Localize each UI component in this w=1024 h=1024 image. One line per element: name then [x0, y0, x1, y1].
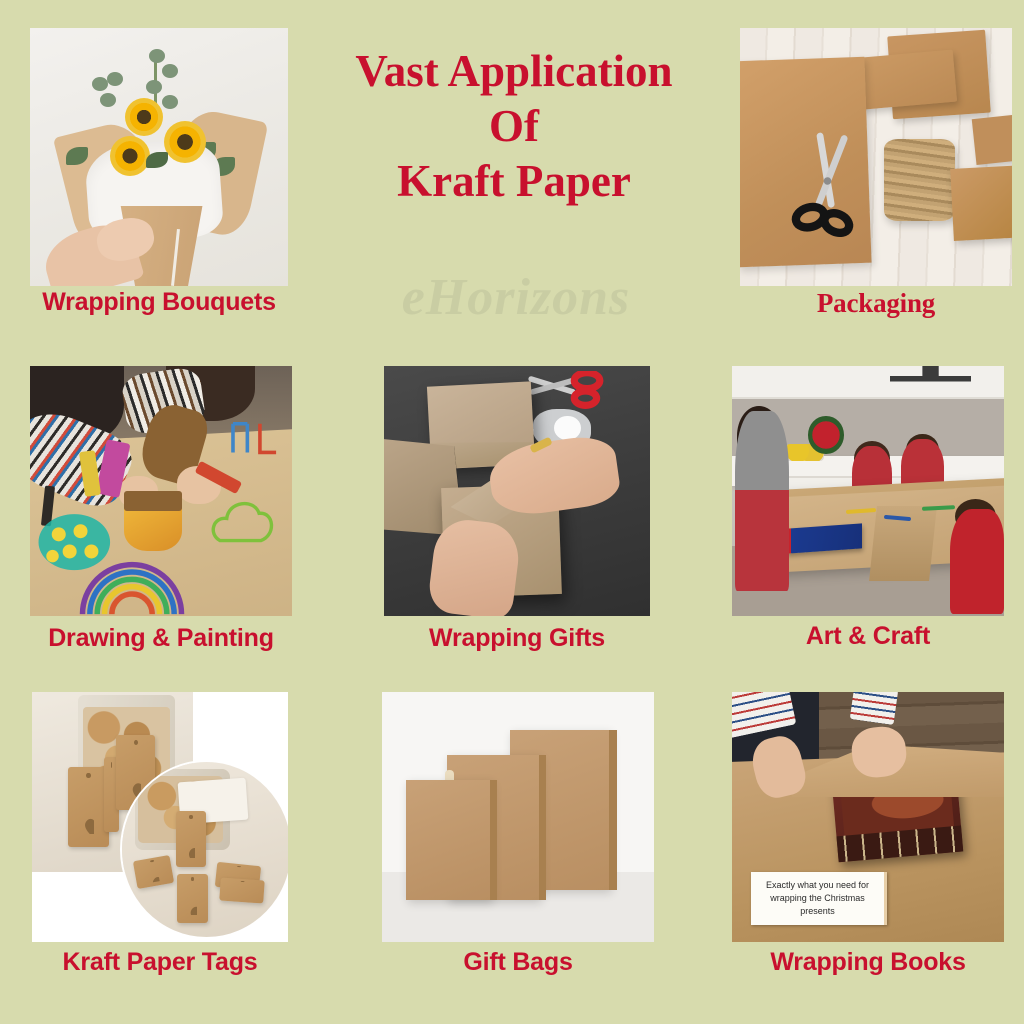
photo-kraft-paper-tags — [32, 692, 288, 942]
page-title: Vast Application Of Kraft Paper — [290, 44, 738, 209]
photo-wrapping-bouquets — [30, 28, 288, 286]
photo-art-craft — [732, 366, 1004, 616]
tile-packaging — [740, 28, 1012, 286]
watermark-text: eHorizons — [330, 268, 702, 327]
caption-packaging: Packaging — [740, 290, 1012, 317]
photo-gift-bags — [382, 692, 654, 942]
caption-kraft-paper-tags: Kraft Paper Tags — [22, 950, 298, 975]
tile-kraft-paper-tags — [32, 692, 288, 942]
caption-gift-bags: Gift Bags — [382, 950, 654, 975]
caption-wrapping-books: Wrapping Books — [732, 950, 1004, 975]
photo-drawing-painting — [30, 366, 292, 616]
tile-gift-bags — [382, 692, 654, 942]
tile-art-craft — [732, 366, 1004, 616]
tile-wrapping-gifts — [384, 366, 650, 616]
scissors-icon — [781, 127, 874, 248]
tile-drawing-painting — [30, 366, 292, 616]
scissors-red-icon — [528, 371, 608, 411]
photo-inset-caption: Exactly what you need for wrapping the C… — [751, 872, 887, 924]
caption-wrapping-bouquets: Wrapping Bouquets — [30, 290, 288, 315]
headline-line-1: Vast Application — [355, 46, 672, 96]
tile-wrapping-books: Exactly what you need for wrapping the C… — [732, 692, 1004, 942]
letters-drawing — [224, 416, 287, 471]
tile-wrapping-bouquets — [30, 28, 288, 286]
cloud-drawing — [208, 491, 276, 551]
headline-line-3: Kraft Paper — [290, 154, 738, 209]
photo-packaging — [740, 28, 1012, 286]
caption-drawing-painting: Drawing & Painting — [20, 626, 302, 651]
photo-wrapping-gifts — [384, 366, 650, 616]
rainbow-drawing — [77, 561, 187, 616]
photo-wrapping-books: Exactly what you need for wrapping the C… — [732, 692, 1004, 942]
caption-wrapping-gifts: Wrapping Gifts — [384, 626, 650, 651]
caption-art-craft: Art & Craft — [732, 624, 1004, 649]
poster-canvas: Vast Application Of Kraft Paper eHorizon… — [0, 0, 1024, 1024]
headline-line-2: Of — [290, 99, 738, 154]
